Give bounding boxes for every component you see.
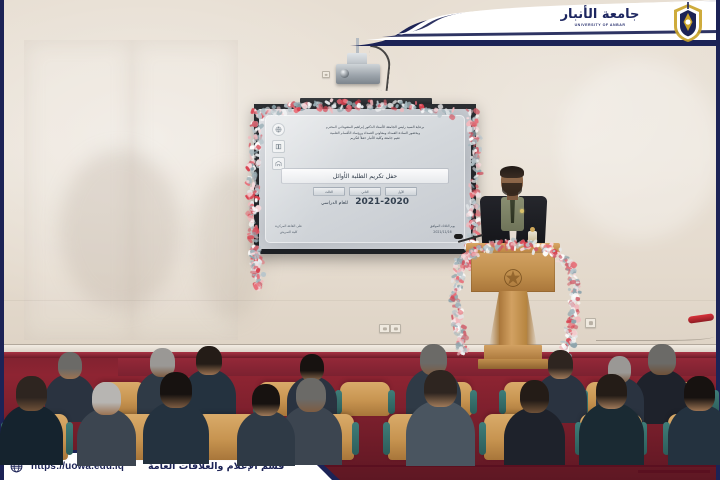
slide-title: حفل تكريم الطلبة الأوائل	[333, 173, 397, 180]
wall-highlight	[560, 60, 720, 240]
slide-year-label: للعام الدراسي	[321, 201, 348, 206]
photo-canvas: برعاية السيد رئيس الجامعة الأستاذ الدكتو…	[0, 0, 720, 480]
university-emblem-icon	[501, 266, 525, 290]
book-icon	[272, 140, 285, 153]
slide-date-block: يوم الثلاثاء الموافق 2021/11/16	[430, 224, 455, 235]
slide-header-line: تقيم جامعة وكلية الأنبار حفلاً لتكريم	[299, 136, 451, 142]
slide-side-icons	[272, 123, 285, 170]
audience-head	[16, 376, 47, 411]
audience-head	[520, 380, 549, 413]
speaker-hair	[500, 166, 524, 178]
rank-chip: الأول	[385, 187, 417, 196]
slide-title-banner: حفل تكريم الطلبة الأوائل	[281, 168, 449, 184]
projector-lens-icon	[340, 69, 349, 78]
globe-icon	[272, 123, 285, 136]
audience-head	[252, 384, 280, 416]
slide-date-value: 2021/11/16	[430, 230, 455, 235]
audience-head	[296, 378, 326, 412]
frame-border-left	[0, 0, 4, 480]
mic-head	[454, 234, 463, 239]
audience-head	[424, 370, 457, 407]
rank-chip: الثالث	[313, 187, 345, 196]
audience-head	[196, 346, 222, 375]
slide-academic-year: 2021-2020 للعام الدراسي	[265, 197, 465, 207]
screen-surface: برعاية السيد رئيس الجامعة الأستاذ الدكتو…	[259, 109, 471, 249]
audience-shoulders	[0, 404, 63, 465]
presentation-slide: برعاية السيد رئيس الجامعة الأستاذ الدكتو…	[265, 115, 465, 243]
slide-venue-block: على القاعة المركزية كلية التمريض	[275, 224, 302, 235]
podium-front-panel	[471, 252, 555, 292]
audience-head	[160, 372, 192, 408]
speaker-beard	[502, 183, 522, 196]
audience-seat	[340, 382, 390, 416]
audience-shoulders	[579, 402, 643, 464]
audience-shoulders	[237, 410, 295, 466]
audience-shoulders	[504, 407, 565, 466]
slide-date-label: يوم الثلاثاء الموافق	[430, 224, 455, 229]
slide-venue-line: كلية التمريض	[275, 230, 302, 235]
wall-fitting	[322, 71, 330, 78]
wall-outlet	[585, 318, 596, 328]
audience-shoulders	[143, 401, 209, 465]
audience-head	[648, 344, 676, 375]
slide-header-text: برعاية السيد رئيس الجامعة الأستاذ الدكتو…	[299, 125, 451, 142]
seated-audience	[0, 330, 720, 480]
red-cable	[688, 313, 715, 324]
projector-mount	[356, 38, 359, 54]
audience-shoulders	[77, 408, 137, 466]
wall-shadow	[60, 150, 180, 310]
slide-year-value: 2021-2020	[355, 197, 409, 207]
slide-rank-chips: الأول الثاني الثالث	[305, 187, 425, 194]
ceiling-projector	[330, 52, 386, 86]
audience-head	[596, 374, 627, 409]
audience-head	[92, 382, 121, 415]
audience-head	[58, 352, 82, 379]
rank-chip: الثاني	[349, 187, 381, 196]
audience-head	[548, 350, 573, 379]
lapel-pin-icon	[520, 209, 524, 213]
audience-head	[684, 376, 715, 411]
wall-seam	[0, 300, 720, 301]
audience-shoulders	[406, 400, 474, 466]
projection-screen: برعاية السيد رئيس الجامعة الأستاذ الدكتو…	[254, 104, 476, 254]
slide-venue-line: على القاعة المركزية	[275, 224, 302, 229]
